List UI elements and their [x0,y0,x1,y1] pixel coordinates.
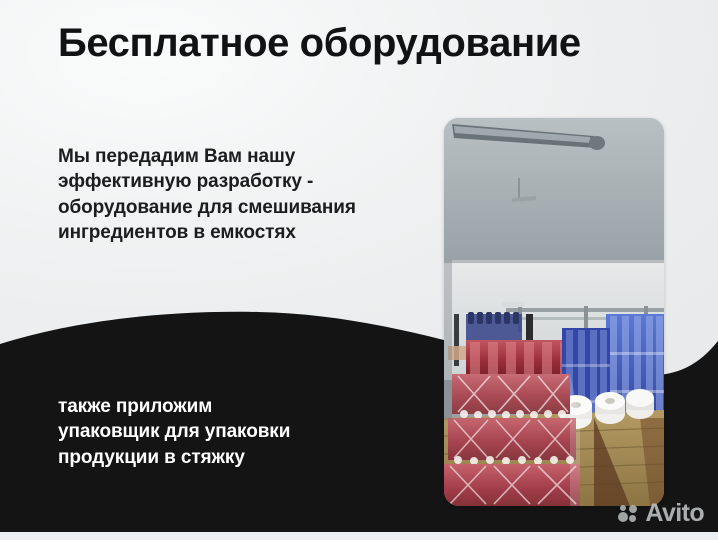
bottom-light-strip [0,532,718,540]
page-title: Бесплатное оборудование [58,22,678,65]
avito-logo-icon [618,504,640,524]
lead-line: оборудование для смешивания [58,195,430,220]
sub-line: продукции в стяжку [58,445,388,470]
sub-line: упаковщик для упаковки [58,419,388,444]
lead-line: эффективную разработку - [58,169,430,194]
avito-watermark: Avito [618,501,704,526]
promo-slide: Бесплатное оборудование Мы передадим Вам… [0,0,718,540]
photo-illustration [444,118,664,506]
lead-paragraph: Мы передадим Вам нашу эффективную разраб… [58,144,430,245]
warehouse-bottles-photo [444,118,664,506]
lead-line: ингредиентов в емкостях [58,220,430,245]
sub-line: также приложим [58,394,388,419]
sub-paragraph: также приложим упаковщик для упаковки пр… [58,394,388,470]
avito-wordmark: Avito [645,501,704,526]
lead-line: Мы передадим Вам нашу [58,144,430,169]
